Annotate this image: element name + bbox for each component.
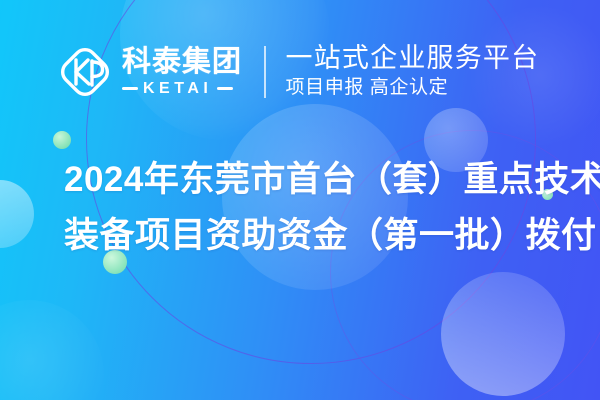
tagline-group: 一站式企业服务平台 项目申报 高企认定 bbox=[286, 43, 540, 101]
tagline-primary: 一站式企业服务平台 bbox=[286, 43, 540, 74]
banner-title-line-2: 装备项目资助资金（第一批）拨付 bbox=[64, 208, 564, 264]
banner-header: 科泰集团 KETAI 一站式企业服务平台 项目申报 高企认定 bbox=[56, 36, 539, 108]
brand-logo: 科泰集团 KETAI bbox=[56, 43, 242, 101]
brand-wordmark: 科泰集团 KETAI bbox=[122, 47, 242, 96]
banner-title-line-1: 2024年东莞市首台（套）重点技术 bbox=[64, 152, 564, 208]
tagline-secondary: 项目申报 高企认定 bbox=[286, 76, 540, 101]
decorative-circle-bottom-left bbox=[0, 300, 104, 400]
rule-right bbox=[217, 87, 233, 90]
header-divider bbox=[264, 46, 266, 98]
ketai-kd-monogram-icon bbox=[56, 43, 114, 101]
banner-title: 2024年东莞市首台（套）重点技术 装备项目资助资金（第一批）拨付 bbox=[64, 152, 564, 264]
decorative-circle-left-edge bbox=[0, 180, 34, 248]
decorative-circle-bottom-right bbox=[441, 272, 565, 396]
brand-name-cn: 科泰集团 bbox=[122, 47, 242, 77]
promo-banner: 科泰集团 KETAI 一站式企业服务平台 项目申报 高企认定 2024年东莞市首… bbox=[0, 0, 600, 400]
brand-name-en: KETAI bbox=[143, 81, 212, 97]
brand-name-en-row: KETAI bbox=[122, 81, 242, 97]
rule-left bbox=[122, 87, 138, 90]
green-dot-icon bbox=[53, 131, 71, 149]
